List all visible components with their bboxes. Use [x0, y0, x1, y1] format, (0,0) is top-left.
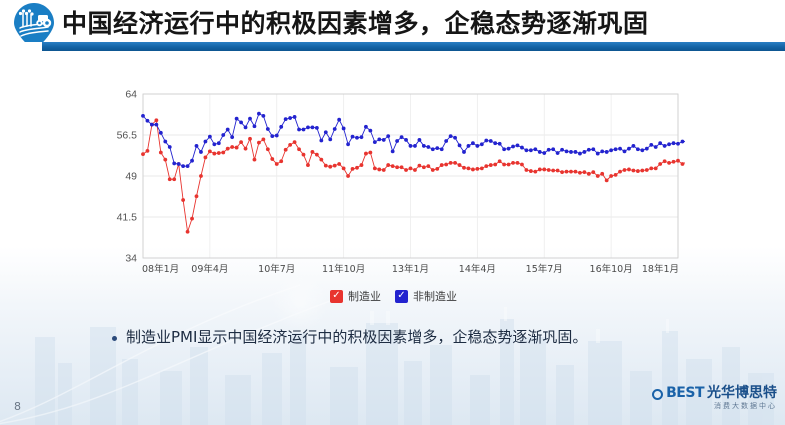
- pmi-line-chart: 3441.54956.564 08年1月09年4月10年7月11年10月13年1…: [110, 84, 685, 284]
- svg-text:10年7月: 10年7月: [258, 263, 295, 275]
- bullet-marker-icon: [112, 336, 117, 341]
- chart-series-lines: [141, 112, 685, 234]
- slide-root: 中国经济运行中的积极因素增多，企稳态势逐渐巩固 3441.54956.564 0…: [0, 0, 785, 425]
- svg-text:15年7月: 15年7月: [526, 263, 563, 275]
- svg-text:56.5: 56.5: [117, 130, 138, 142]
- brand-mark: BEST: [666, 386, 704, 400]
- bullet-point: 制造业PMI显示中国经济运行中的积极因素增多，企稳态势逐渐巩固。: [112, 328, 587, 348]
- legend-checkbox-non-manufacturing[interactable]: ✓: [395, 290, 408, 303]
- svg-text:08年1月: 08年1月: [142, 263, 179, 275]
- chart-y-axis-labels: 3441.54956.564: [117, 89, 138, 265]
- brand-name: 光华博思特: [707, 386, 777, 400]
- svg-text:16年10月: 16年10月: [590, 263, 633, 275]
- brand-top-row: BEST 光华博思特: [652, 386, 777, 400]
- page-number: 8: [14, 400, 21, 413]
- svg-text:13年1月: 13年1月: [392, 263, 429, 275]
- title-underline: [42, 42, 785, 51]
- svg-text:11年10月: 11年10月: [322, 263, 365, 275]
- legend-label-manufacturing: 制造业: [348, 288, 381, 304]
- svg-text:41.5: 41.5: [117, 212, 138, 224]
- chart-legend: ✓ 制造业 ✓ 非制造业: [330, 288, 457, 304]
- chart-svg: 3441.54956.564 08年1月09年4月10年7月11年10月13年1…: [110, 84, 685, 284]
- legend-item-non-manufacturing[interactable]: ✓ 非制造业: [395, 288, 457, 304]
- brand-footer: BEST 光华博思特 消费大数据中心: [652, 386, 777, 410]
- brand-circle-icon: [652, 389, 663, 400]
- legend-label-non-manufacturing: 非制造业: [413, 288, 457, 304]
- page-title: 中国经济运行中的积极因素增多，企稳态势逐渐巩固: [62, 4, 649, 40]
- legend-item-manufacturing[interactable]: ✓ 制造业: [330, 288, 381, 304]
- svg-text:18年1月: 18年1月: [642, 263, 679, 275]
- slide-header: 中国经济运行中的积极因素增多，企稳态势逐渐巩固: [0, 0, 785, 42]
- title-underline-cap: [0, 42, 42, 51]
- svg-text:49: 49: [125, 171, 137, 183]
- svg-text:64: 64: [125, 89, 137, 101]
- brand-subtitle: 消费大数据中心: [652, 403, 777, 410]
- svg-text:09年4月: 09年4月: [191, 263, 228, 275]
- svg-text:14年4月: 14年4月: [459, 263, 496, 275]
- legend-checkbox-manufacturing[interactable]: ✓: [330, 290, 343, 303]
- bullet-text: 制造业PMI显示中国经济运行中的积极因素增多，企稳态势逐渐巩固。: [126, 328, 587, 348]
- chart-x-axis-labels: 08年1月09年4月10年7月11年10月13年1月14年4月15年7月16年1…: [142, 263, 679, 275]
- svg-text:34: 34: [125, 253, 137, 265]
